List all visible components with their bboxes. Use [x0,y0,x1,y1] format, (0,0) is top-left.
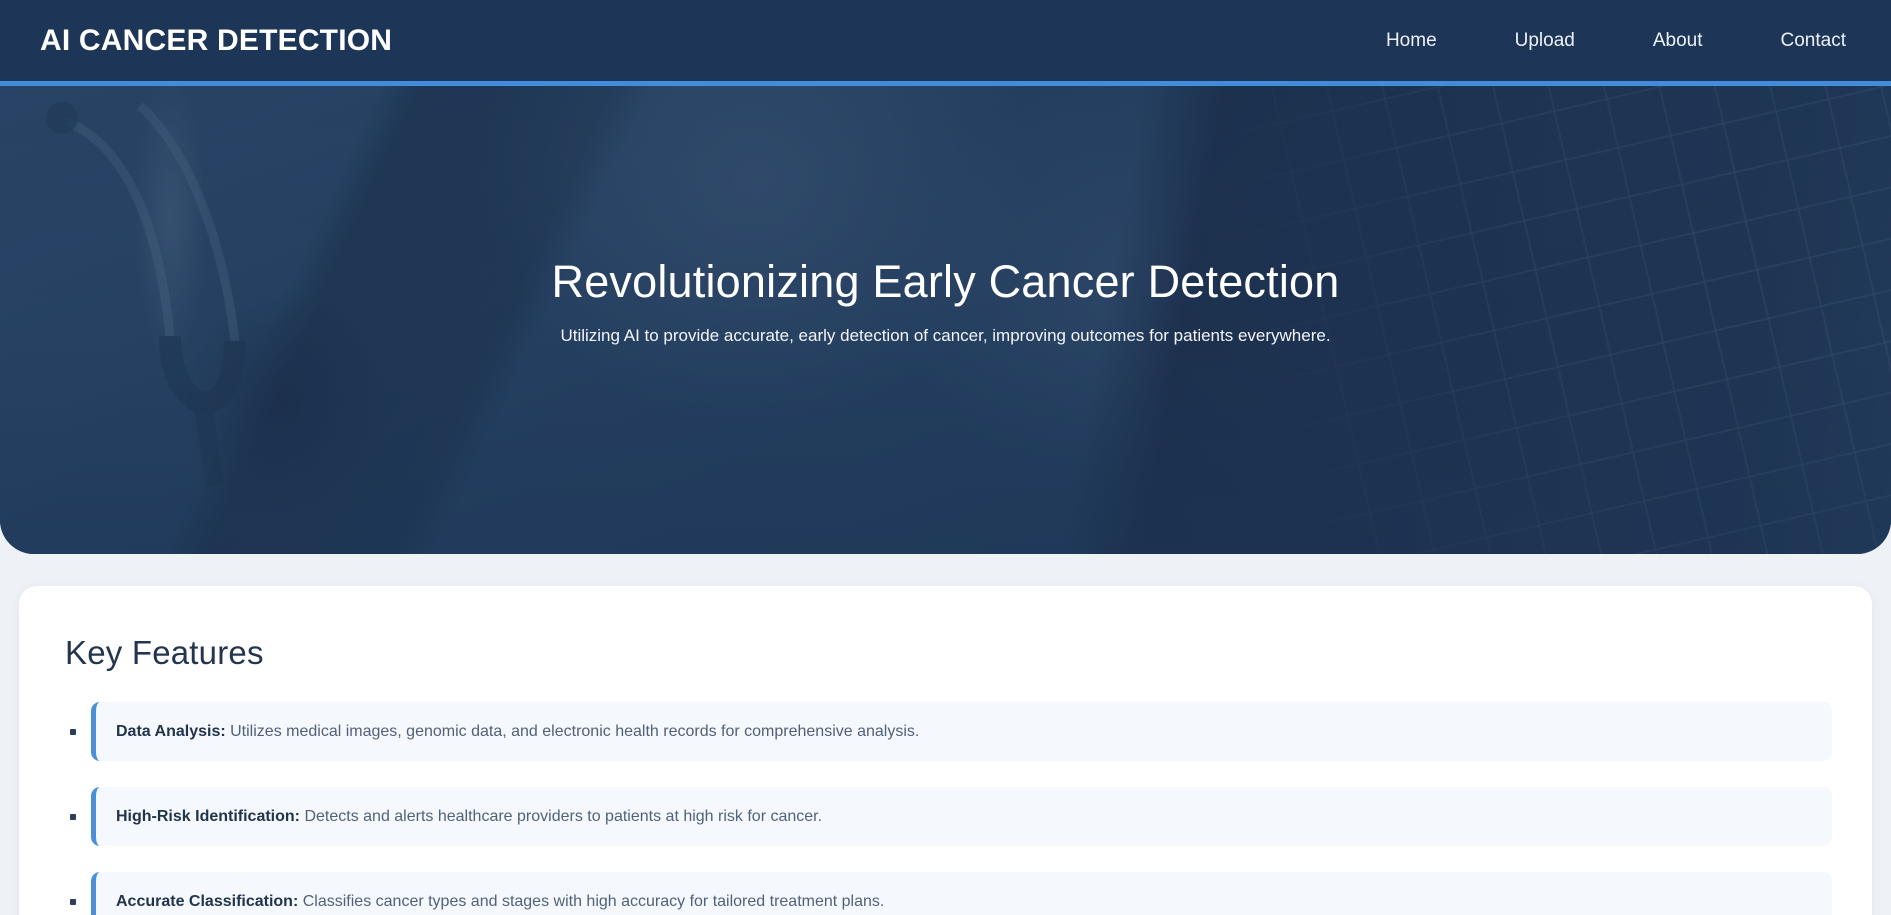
bullet-icon [70,899,76,905]
hero-banner: Revolutionizing Early Cancer Detection U… [0,86,1891,554]
feature-description: Utilizes medical images, genomic data, a… [230,723,919,740]
nav-link-upload[interactable]: Upload [1515,22,1575,60]
feature-label: High-Risk Identification: [116,808,300,825]
main-content-card: Key Features Data Analysis: Utilizes med… [19,586,1872,915]
list-item: Data Analysis: Utilizes medical images, … [65,702,1832,761]
list-item: Accurate Classification: Classifies canc… [65,872,1832,915]
hero-title: Revolutionizing Early Cancer Detection [0,256,1891,308]
feature-card: High-Risk Identification: Detects and al… [91,787,1832,846]
hero-content: Revolutionizing Early Cancer Detection U… [0,86,1891,346]
bullet-icon [70,814,76,820]
list-item: High-Risk Identification: Detects and al… [65,787,1832,846]
feature-card: Data Analysis: Utilizes medical images, … [91,702,1832,761]
site-header: AI CANCER DETECTION Home Upload About Co… [0,0,1891,86]
hero-subtitle: Utilizing AI to provide accurate, early … [0,326,1891,346]
bullet-icon [70,729,76,735]
feature-card: Accurate Classification: Classifies canc… [91,872,1832,915]
main-navigation: Home Upload About Contact [1386,22,1846,60]
nav-link-about[interactable]: About [1653,22,1703,60]
feature-description: Detects and alerts healthcare providers … [304,808,822,825]
nav-link-home[interactable]: Home [1386,22,1437,60]
page-title: Key Features [65,634,1832,672]
brand-title: AI CANCER DETECTION [40,24,392,58]
key-features-list: Data Analysis: Utilizes medical images, … [65,702,1832,915]
feature-label: Accurate Classification: [116,893,298,910]
nav-link-contact[interactable]: Contact [1781,22,1846,60]
feature-label: Data Analysis: [116,723,226,740]
feature-description: Classifies cancer types and stages with … [303,893,885,910]
